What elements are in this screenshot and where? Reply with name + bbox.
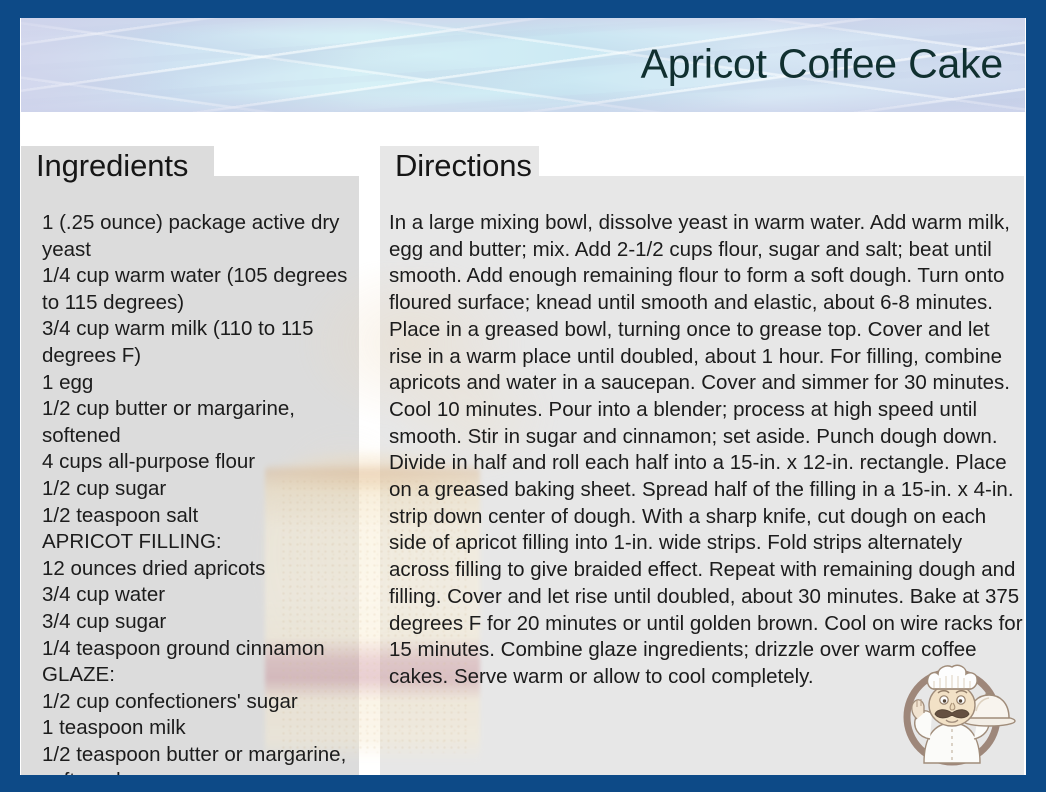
list-item: APRICOT FILLING: <box>42 529 360 556</box>
directions-heading-tab: Directions <box>380 146 539 186</box>
list-item: 1/2 cup butter or margarine, softened <box>42 396 360 449</box>
list-item: 1 (.25 ounce) package active dry yeast <box>42 210 360 263</box>
page-title: Apricot Coffee Cake <box>641 41 1003 88</box>
recipe-header-banner: Apricot Coffee Cake <box>21 18 1025 112</box>
recipe-card-inner: Apricot Coffee Cake Ingredients 1 (.25 o… <box>20 18 1026 775</box>
list-item: 1/2 cup sugar <box>42 476 360 503</box>
list-item: 1/2 teaspoon salt <box>42 503 360 530</box>
list-item: 1/2 teaspoon butter or margarine, soften… <box>42 742 360 775</box>
recipe-card: Apricot Coffee Cake Ingredients 1 (.25 o… <box>0 0 1046 792</box>
list-item: 1 teaspoon milk <box>42 715 360 742</box>
list-item: GLAZE: <box>42 662 360 689</box>
list-item: 3/4 cup sugar <box>42 609 360 636</box>
list-item: 1/4 teaspoon ground cinnamon <box>42 636 360 663</box>
ingredients-heading: Ingredients <box>21 148 188 184</box>
list-item: 12 ounces dried apricots <box>42 556 360 583</box>
directions-text: In a large mixing bowl, dissolve yeast i… <box>389 210 1026 691</box>
list-item: 1 egg <box>42 370 360 397</box>
ingredients-heading-tab: Ingredients <box>21 146 214 186</box>
chef-mascot-logo <box>890 651 1018 773</box>
list-item: 4 cups all-purpose flour <box>42 449 360 476</box>
directions-heading: Directions <box>380 148 532 184</box>
ingredients-list: 1 (.25 ounce) package active dry yeast 1… <box>42 210 360 775</box>
list-item: 1/4 cup warm water (105 degrees to 115 d… <box>42 263 360 316</box>
list-item: 3/4 cup warm milk (110 to 115 degrees F) <box>42 316 360 369</box>
list-item: 1/2 cup confectioners' sugar <box>42 689 360 716</box>
list-item: 3/4 cup water <box>42 582 360 609</box>
